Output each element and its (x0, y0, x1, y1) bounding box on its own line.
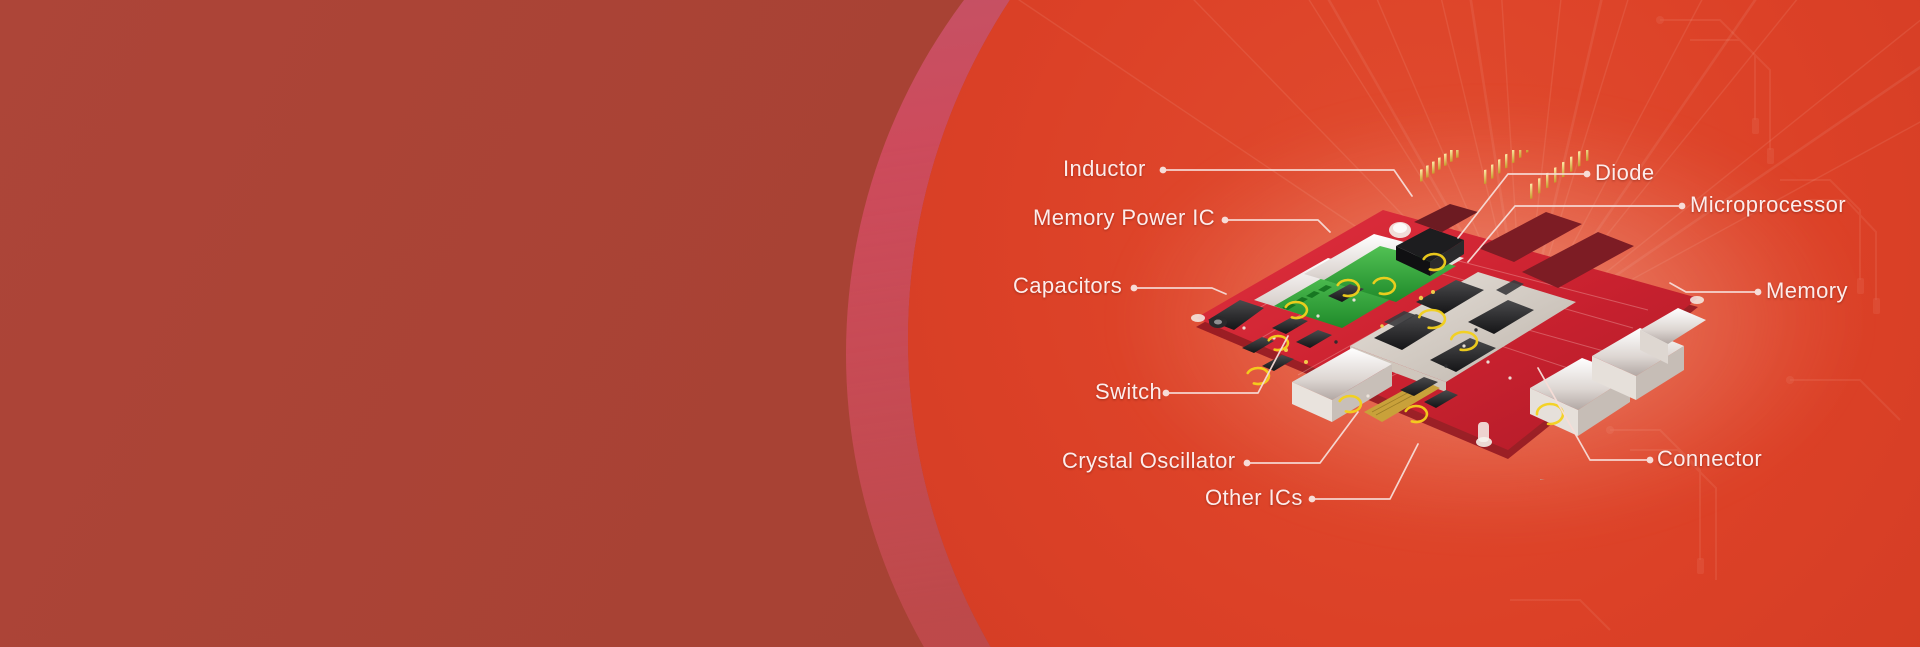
callout-label-connector: Connector (1657, 448, 1762, 470)
banner-stage: InductorMemory Power ICCapacitorsSwitchC… (0, 0, 1920, 647)
callout-label-switch: Switch (1095, 381, 1162, 403)
callout-label-diode: Diode (1595, 162, 1654, 184)
callout-label-memory: Memory (1766, 280, 1848, 302)
callout-label-microprocessor: Microprocessor (1690, 194, 1846, 216)
callout-label-other-ics: Other ICs (1205, 487, 1303, 509)
circuit-board-image (1178, 150, 1738, 480)
callout-label-crystal-oscillator: Crystal Oscillator (1062, 450, 1235, 472)
callout-label-inductor: Inductor (1063, 158, 1146, 180)
callout-label-memory-power-ic: Memory Power IC (1033, 207, 1215, 229)
callout-label-capacitors: Capacitors (1013, 275, 1122, 297)
